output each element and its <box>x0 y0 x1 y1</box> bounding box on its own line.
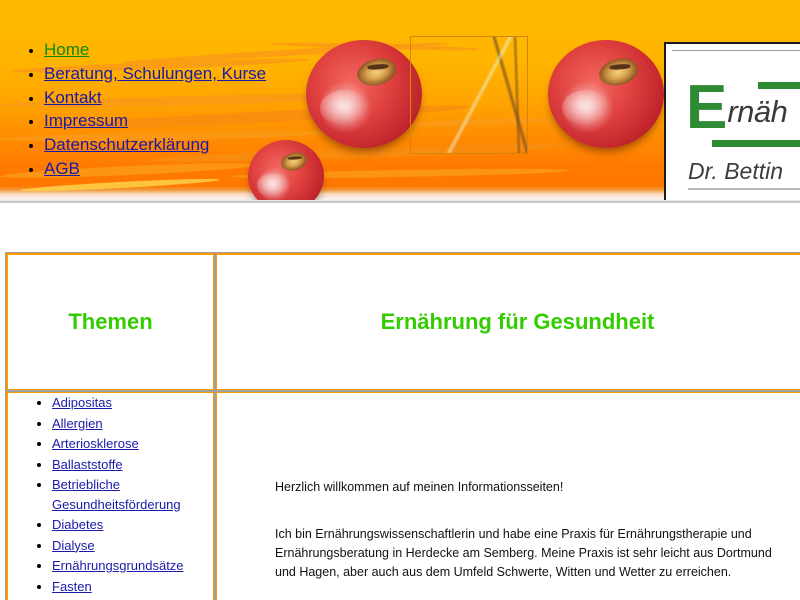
topic-link-betriebliche-gesundheitsfoerderung[interactable]: Betriebliche Gesundheitsförderung <box>52 477 181 512</box>
main-content-inner: Herzlich willkommen auf meinen Informati… <box>217 393 800 583</box>
intro-paragraph: Ich bin Ernährungswissenschaftlerin und … <box>275 525 794 583</box>
apple-highlight <box>562 90 611 127</box>
logo-brand-text: Ernäh <box>686 80 787 136</box>
nav-link-datenschutz[interactable]: Datenschutzerklärung <box>44 135 209 154</box>
page-title-cell: Ernährung für Gesundheit <box>215 253 800 391</box>
table-row-headings: Themen Ernährung für Gesundheit <box>6 253 800 391</box>
topic-link-diabetes[interactable]: Diabetes <box>52 517 103 532</box>
topic-link-adipositas[interactable]: Adipositas <box>52 395 112 410</box>
logo-initial: E <box>686 73 727 142</box>
apple-stem <box>354 54 400 91</box>
apple-stem <box>596 54 642 91</box>
topic-link-dialyse[interactable]: Dialyse <box>52 538 95 553</box>
logo-green-bar-bottom <box>712 140 800 147</box>
sidebar-heading: Themen <box>68 309 152 334</box>
logo-person-name: Dr. Bettin <box>688 158 783 185</box>
table-row-body: Adipositas Allergien Arteriosklerose Bal… <box>6 391 800 600</box>
logo-card-inner-rule <box>672 50 800 51</box>
sidebar-topics-cell: Adipositas Allergien Arteriosklerose Bal… <box>6 391 215 600</box>
sidebar-heading-cell: Themen <box>6 253 215 391</box>
grapes-image <box>410 36 528 154</box>
list-item[interactable]: Ballaststoffe <box>52 455 213 475</box>
apple-left-image <box>306 40 422 148</box>
topic-link-ballaststoffe[interactable]: Ballaststoffe <box>52 457 123 472</box>
topic-link-arteriosklerose[interactable]: Arteriosklerose <box>52 436 139 451</box>
logo-word: rnäh <box>727 94 787 129</box>
primary-navigation: Home Beratung, Schulungen, Kurse Kontakt… <box>18 38 266 181</box>
topic-link-allergien[interactable]: Allergien <box>52 416 103 431</box>
nav-link-kontakt[interactable]: Kontakt <box>44 88 102 107</box>
nav-item-kontakt[interactable]: Kontakt <box>44 86 266 110</box>
nav-link-home[interactable]: Home <box>44 40 89 59</box>
nav-item-home[interactable]: Home <box>44 38 266 62</box>
list-item[interactable]: Diabetes <box>52 515 213 535</box>
nav-item-impressum[interactable]: Impressum <box>44 109 266 133</box>
list-item[interactable]: Dialyse <box>52 536 213 556</box>
topics-list: Adipositas Allergien Arteriosklerose Bal… <box>8 393 213 600</box>
list-item[interactable]: Fasten <box>52 577 213 597</box>
nav-item-datenschutz[interactable]: Datenschutzerklärung <box>44 133 266 157</box>
list-item[interactable]: Betriebliche Gesundheitsförderung <box>52 475 213 514</box>
nav-link-beratung[interactable]: Beratung, Schulungen, Kurse <box>44 64 266 83</box>
site-logo-card[interactable]: Ernäh Dr. Bettin <box>664 42 800 200</box>
page-layout-table: Themen Ernährung für Gesundheit Adiposit… <box>6 253 800 600</box>
grape-leaf-veins <box>411 37 527 153</box>
site-header-banner: Home Beratung, Schulungen, Kurse Kontakt… <box>0 0 800 200</box>
list-item[interactable]: Ernährungsgrundsätze <box>52 556 213 576</box>
nav-item-beratung[interactable]: Beratung, Schulungen, Kurse <box>44 62 266 86</box>
apple-right-image <box>548 40 664 148</box>
content-top-spacer <box>0 203 800 253</box>
list-item[interactable]: Allergien <box>52 414 213 434</box>
welcome-lead-text: Herzlich willkommen auf meinen Informati… <box>275 479 794 497</box>
main-content-cell: Herzlich willkommen auf meinen Informati… <box>215 391 800 600</box>
page-title: Ernährung für Gesundheit <box>381 309 655 334</box>
apple-stem <box>279 149 309 173</box>
nav-link-agb[interactable]: AGB <box>44 159 80 178</box>
apple-highlight <box>320 90 369 127</box>
topic-link-ernaehrungsgrundsaetze[interactable]: Ernährungsgrundsätze <box>52 558 184 573</box>
list-item[interactable]: Arteriosklerose <box>52 434 213 454</box>
nav-item-agb[interactable]: AGB <box>44 157 266 181</box>
nav-link-impressum[interactable]: Impressum <box>44 111 128 130</box>
topic-link-fasten[interactable]: Fasten <box>52 579 92 594</box>
logo-name-underline <box>688 188 800 190</box>
list-item[interactable]: Adipositas <box>52 393 213 413</box>
